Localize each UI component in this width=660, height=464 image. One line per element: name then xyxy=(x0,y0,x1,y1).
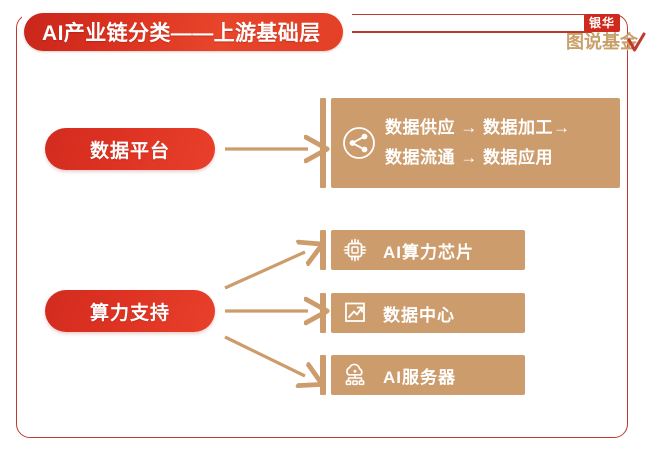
category-pill-data-platform[interactable]: 数据平台 xyxy=(45,128,215,170)
panel-label-ai-server: AI服务器 xyxy=(383,363,456,388)
panel-data-center[interactable]: 数据中心 xyxy=(320,293,525,333)
panel-label-data-center: 数据中心 xyxy=(383,301,455,326)
category-label-compute-support: 算力支持 xyxy=(90,298,170,325)
category-label-data-platform: 数据平台 xyxy=(90,136,170,163)
panel-body: AI服务器 xyxy=(331,355,525,395)
check-icon xyxy=(626,32,646,54)
category-pill-compute-support[interactable]: 算力支持 xyxy=(45,290,215,332)
panel-data-platform[interactable]: 数据供应 → 数据加工→ 数据流通 → 数据应用 xyxy=(320,98,620,188)
panel-ai-chip[interactable]: AI算力芯片 xyxy=(320,230,525,270)
panel-body: 数据中心 xyxy=(331,293,525,333)
brand-logo-top: 银华 xyxy=(584,14,620,32)
cpu-chip-icon xyxy=(341,236,369,264)
panel-body: AI算力芯片 xyxy=(331,230,525,270)
panel-label-ai-chip: AI算力芯片 xyxy=(383,238,474,263)
share-nodes-icon xyxy=(341,125,377,161)
panel-body: 数据供应 → 数据加工→ 数据流通 → 数据应用 xyxy=(331,98,620,188)
cloud-network-icon xyxy=(341,361,369,389)
page-title: AI产业链分类——上游基础层 xyxy=(24,13,343,51)
brand-logo: 银华 图说基金 xyxy=(566,14,644,60)
panel-ai-server[interactable]: AI服务器 xyxy=(320,355,525,395)
panel-data-line2: 数据流通 → 数据应用 xyxy=(385,143,570,173)
page-title-label: AI产业链分类——上游基础层 xyxy=(42,17,321,47)
panel-data-line1: 数据供应 → 数据加工→ xyxy=(385,113,570,143)
infographic-canvas: AI产业链分类——上游基础层 银华 图说基金 数据平台 xyxy=(0,0,660,464)
chart-trend-icon xyxy=(341,299,369,327)
title-rule xyxy=(352,31,592,33)
